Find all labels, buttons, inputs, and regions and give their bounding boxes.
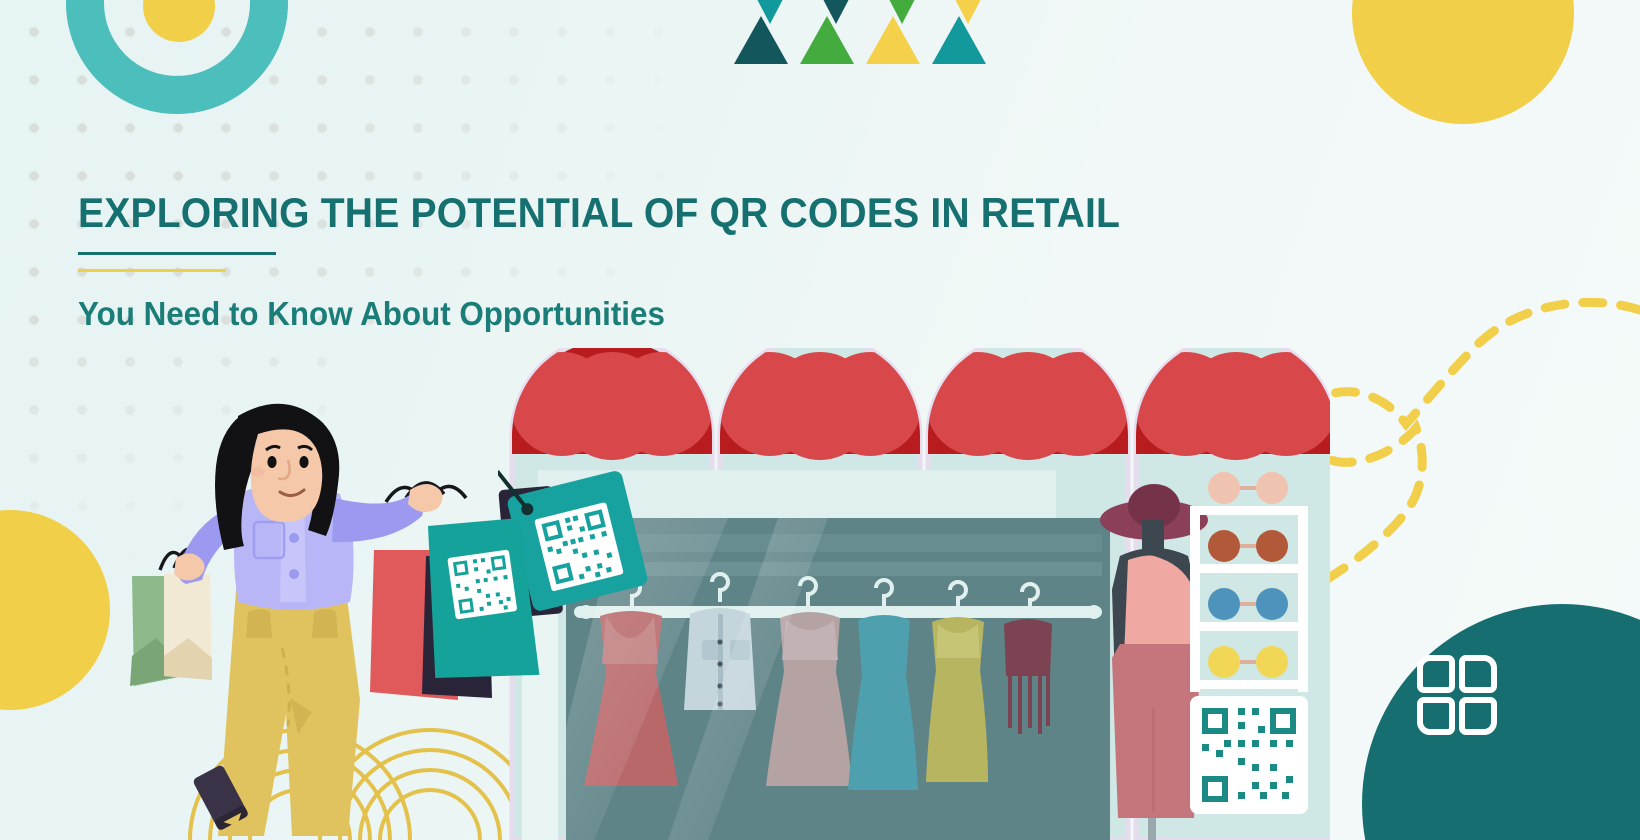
triangle-up-2 [800,16,854,64]
divider-teal [78,252,276,255]
divider-yellow [78,269,226,272]
page-title: EXPLORING THE POTENTIAL OF QR CODES IN R… [78,190,1175,235]
triangle-strip-decoration [736,0,996,64]
storefront-illustration [498,348,1330,840]
banner-root: EXPLORING THE POTENTIAL OF QR CODES IN R… [0,0,1640,840]
triangle-up-3 [866,16,920,64]
text-block: EXPLORING THE POTENTIAL OF QR CODES IN R… [78,190,1258,333]
triangle-up-4 [932,16,986,64]
triangle-up-1 [734,16,788,64]
qr-quadrant-logo-icon[interactable] [1414,652,1500,738]
page-subtitle: You Need to Know About Opportunities [78,295,1199,333]
shelf-qr-code [1190,696,1308,814]
store-awnings [510,348,1330,460]
woman-with-shopping-bags-illustration [130,398,580,840]
yellow-circle-top-right [1352,0,1574,124]
